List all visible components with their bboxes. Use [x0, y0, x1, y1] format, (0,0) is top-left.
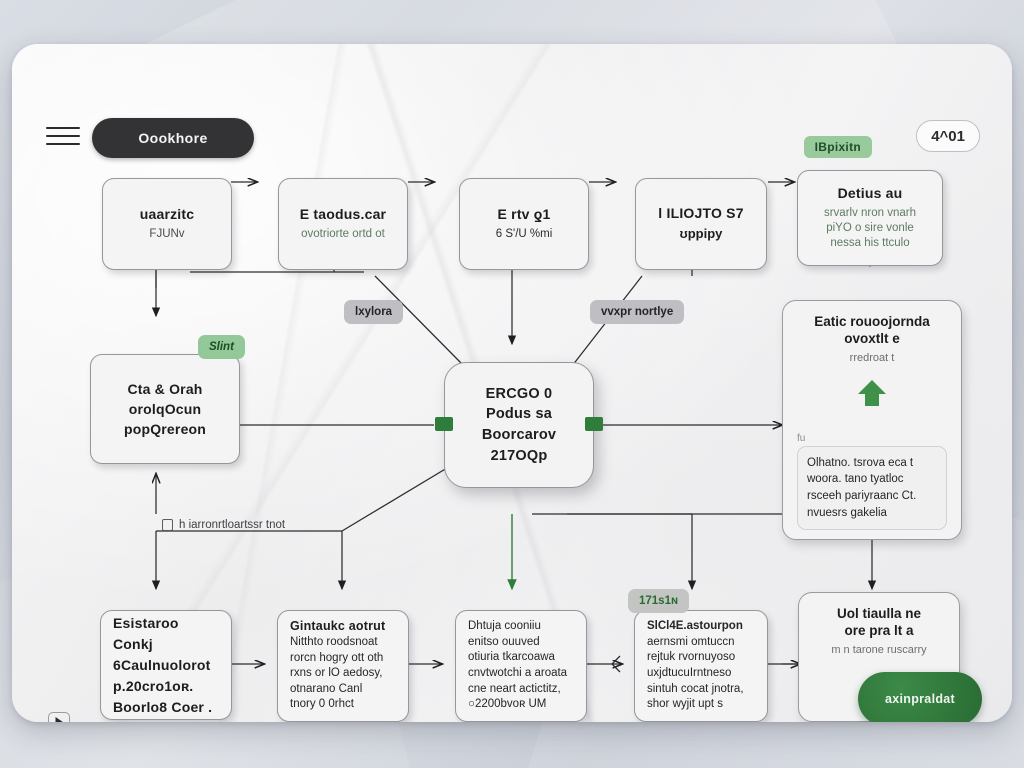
menu-bar	[46, 143, 80, 145]
edge-label-171s1n[interactable]: 171s1ɴ	[628, 589, 689, 613]
chrome-layer: Oookhore 4^01 IBpixitn Slint lxylora vvx…	[12, 44, 1012, 722]
menu-icon[interactable]	[46, 119, 80, 153]
flow-canvas[interactable]: uaarzitc FJUNv E taodus.car ovotriorte o…	[12, 44, 1012, 722]
menu-bar	[46, 127, 80, 129]
floating-note-text: h iarronrtloartssr tnot	[179, 519, 285, 531]
mode-pill-button[interactable]: Oookhore	[92, 118, 254, 158]
menu-bar	[46, 135, 80, 137]
edge-label-vvxpr[interactable]: vvxpr nortlye	[590, 300, 684, 324]
edge-label-slint[interactable]: Slint	[198, 335, 245, 359]
status-badge[interactable]: IBpixitn	[804, 136, 872, 158]
floating-note: h iarronrtloartssr tnot	[162, 519, 285, 531]
note-icon	[162, 519, 173, 531]
clock-badge: 4^01	[916, 120, 980, 152]
edge-label-lxylora[interactable]: lxylora	[344, 300, 403, 324]
cursor-icon[interactable]	[48, 712, 70, 722]
